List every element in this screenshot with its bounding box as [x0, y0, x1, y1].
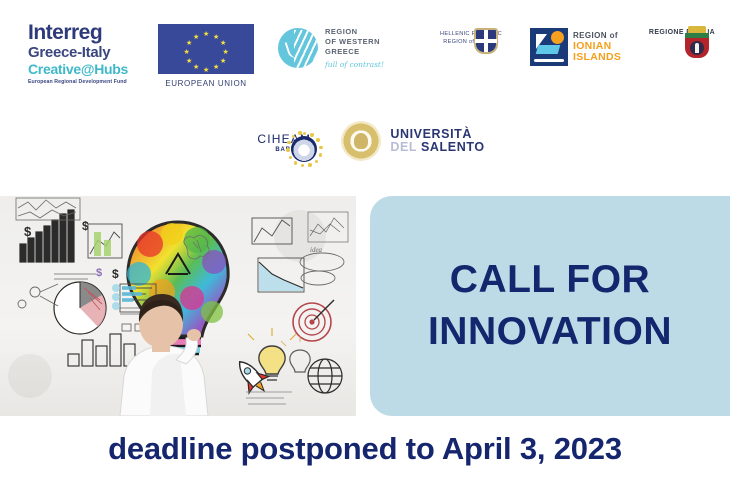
deadline-text: deadline postponed to April 3, 2023: [108, 431, 622, 467]
ionian-islands-text: REGION of IONIAN ISLANDS: [573, 31, 621, 63]
salento-text: UNIVERSITÀ DEL SALENTO: [390, 128, 484, 154]
deadline-bar: deadline postponed to April 3, 2023: [0, 418, 730, 479]
salento-line2-bold: SALENTO: [421, 140, 485, 154]
universita-del-salento-logo: UNIVERSITÀ DEL SALENTO: [341, 121, 484, 161]
interreg-logo: Interreg Greece-Italy Creative@Hubs Euro…: [28, 22, 148, 85]
svg-text:$: $: [24, 224, 32, 239]
ionian-sail-sun-icon: [530, 28, 568, 66]
interreg-line1: Interreg: [28, 22, 148, 43]
cta-line-1: CALL FOR: [450, 254, 650, 306]
western-greece-line3: GREECE: [325, 47, 384, 57]
poster-page: Interreg Greece-Italy Creative@Hubs Euro…: [0, 0, 730, 479]
salento-line2-faint: DEL: [390, 140, 421, 154]
svg-text:$: $: [96, 267, 102, 279]
epirus-line2: REGION of EPIRUS: [428, 38, 514, 46]
western-greece-text: REGION OF WESTERN GREECE full of contras…: [325, 27, 384, 69]
salento-seal-icon: [341, 121, 381, 161]
regione-puglia-logo: REGIONE PUGLIA: [640, 26, 724, 36]
svg-text:idea: idea: [310, 246, 323, 254]
european-union-logo: ★ ★ ★ ★ ★ ★ ★ ★ ★ ★ ★ ★ EUROPEAN UNION: [158, 24, 254, 88]
western-greece-tagline: full of contrast!: [325, 60, 384, 69]
call-for-innovation-panel: CALL FOR INNOVATION: [370, 196, 730, 416]
ionian-line3: ISLANDS: [573, 52, 621, 63]
interreg-line2: Greece-Italy: [28, 45, 148, 60]
western-greece-line2: OF WESTERN: [325, 37, 384, 47]
eu-flag-icon: ★ ★ ★ ★ ★ ★ ★ ★ ★ ★ ★ ★: [158, 24, 254, 74]
hero-image: $ $: [0, 196, 356, 416]
partner-logo-row-2: CIHEAM BARI UNIVERSITÀ DEL SALENTO: [0, 108, 730, 174]
epirus-line1: HELLENIC REPUBLIC: [428, 30, 514, 38]
hero-section: $ $: [0, 196, 730, 416]
salento-line2: DEL SALENTO: [390, 141, 484, 154]
interreg-line3: Creative@Hubs: [28, 62, 148, 76]
western-greece-logo: REGION OF WESTERN GREECE full of contras…: [278, 27, 384, 69]
puglia-caption: REGIONE PUGLIA: [640, 29, 724, 36]
interreg-line4: European Regional Development Fund: [28, 80, 148, 85]
western-greece-emblem-icon: [278, 28, 318, 68]
eu-caption: EUROPEAN UNION: [158, 79, 254, 88]
svg-text:$: $: [112, 267, 119, 281]
ciheam-bari-logo: CIHEAM BARI: [245, 129, 323, 153]
partner-logo-strip: Interreg Greece-Italy Creative@Hubs Euro…: [0, 0, 730, 190]
ionian-islands-logo: REGION of IONIAN ISLANDS: [530, 28, 621, 66]
epirus-logo: HELLENIC REPUBLIC REGION of EPIRUS: [428, 26, 514, 46]
cta-line-2: INNOVATION: [428, 306, 672, 358]
western-greece-line1: REGION: [325, 27, 384, 37]
